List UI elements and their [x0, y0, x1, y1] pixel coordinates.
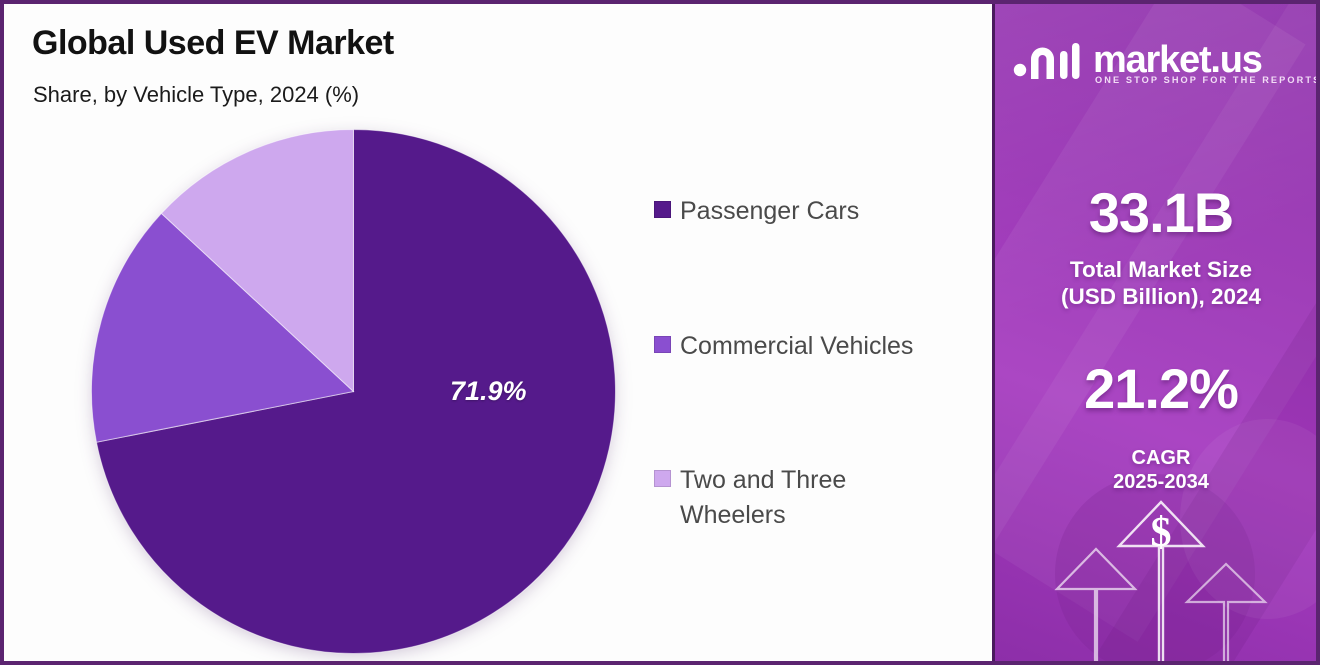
brand-logo-tagline: ONE STOP SHOP FOR THE REPORTS — [1095, 75, 1320, 85]
brand-logo-wordmark: market.us — [1093, 41, 1262, 79]
legend-swatch-icon — [654, 336, 671, 353]
market-size-caption-line-2: (USD Billion), 2024 — [995, 283, 1320, 310]
market-size-caption: Total Market Size (USD Billion), 2024 — [995, 256, 1320, 311]
cagr-caption-line-1: CAGR — [995, 446, 1320, 470]
legend-item-label: Commercial Vehicles — [680, 329, 913, 364]
cagr-caption-line-2: 2025-2034 — [995, 470, 1320, 494]
legend-item-passenger-cars[interactable]: Passenger Cars — [654, 194, 974, 229]
cagr-value: 21.2% — [995, 356, 1320, 421]
chart-legend: Passenger Cars Commercial Vehicles Two a… — [654, 194, 974, 532]
growth-arrows-icon — [995, 494, 1320, 665]
legend-swatch-icon — [654, 470, 671, 487]
market-us-logo-icon — [1013, 37, 1083, 83]
pie-chart: Passenger Cars: 71.9%Commercial Vehicles… — [90, 128, 617, 655]
brand-logo[interactable]: market.us ONE STOP SHOP FOR THE REPORTS — [1013, 32, 1309, 88]
page-title: Global Used EV Market — [32, 24, 394, 63]
chart-subtitle: Share, by Vehicle Type, 2024 (%) — [33, 82, 359, 108]
brand-stats-panel: market.us ONE STOP SHOP FOR THE REPORTS … — [992, 4, 1320, 665]
market-size-value: 33.1B — [995, 180, 1320, 245]
market-report-card: Global Used EV Market Share, by Vehicle … — [0, 0, 1320, 665]
legend-item-label: Passenger Cars — [680, 194, 859, 229]
chart-pane: Global Used EV Market Share, by Vehicle … — [4, 4, 992, 665]
pie-slice-data-label: 71.9% — [450, 376, 527, 407]
legend-item-two-and-three-wheelers[interactable]: Two and Three Wheelers — [654, 463, 974, 532]
legend-item-commercial-vehicles[interactable]: Commercial Vehicles — [654, 329, 974, 364]
legend-swatch-icon — [654, 201, 671, 218]
pie-chart-svg: Passenger Cars: 71.9%Commercial Vehicles… — [90, 128, 617, 655]
cagr-caption: CAGR 2025-2034 — [995, 446, 1320, 495]
market-size-caption-line-1: Total Market Size — [995, 256, 1320, 283]
legend-item-label: Two and Three Wheelers — [680, 463, 950, 532]
